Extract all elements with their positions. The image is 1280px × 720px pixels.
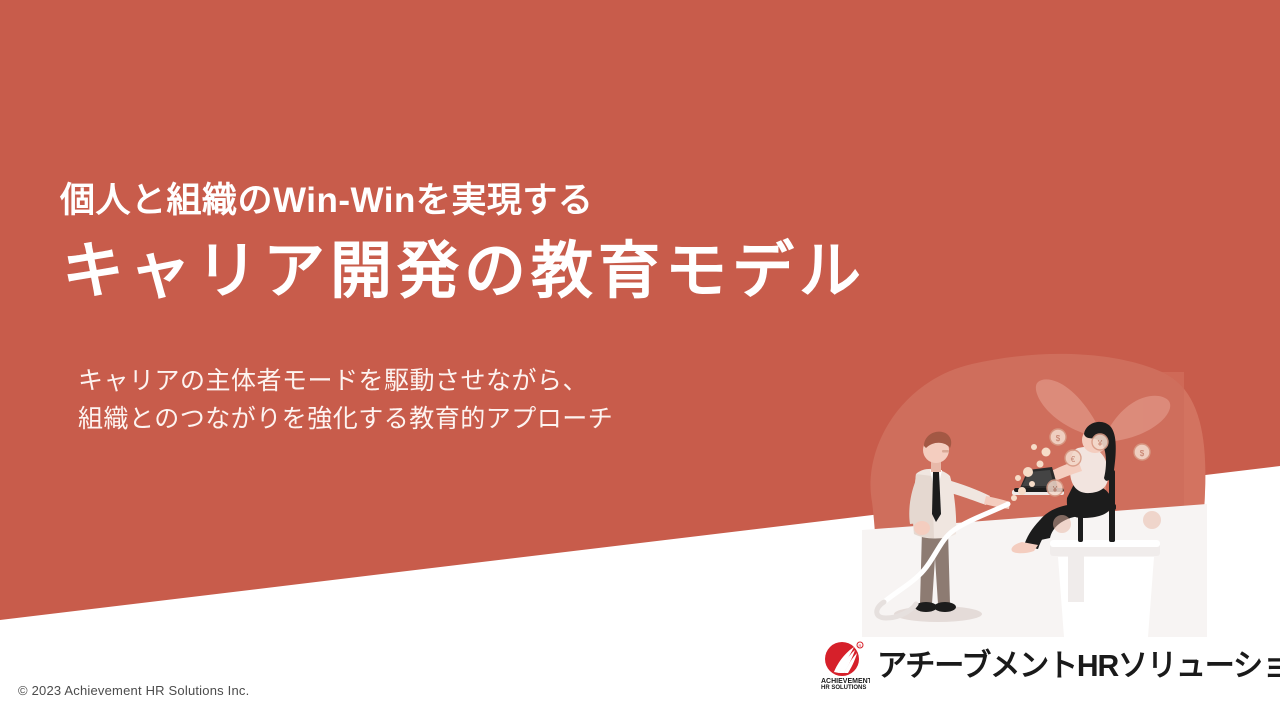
svg-text:€: € [1071,455,1076,464]
page-title: キャリア開発の教育モデル [62,236,866,307]
svg-text:ACHIEVEMENT: ACHIEVEMENT [821,678,870,685]
svg-text:¥: ¥ [1052,485,1058,494]
slide-subcopy-line-1: キャリアの主体者モードを駆動させながら、 [78,362,613,400]
slide-subcopy: キャリアの主体者モードを駆動させながら、 組織とのつながりを強化する教育的アプロ… [78,362,613,438]
slide-root: $ ¥ € $ ¥ [0,0,1280,720]
copyright-notice: © 2023 Achievement HR Solutions Inc. [18,683,249,698]
brand-logo: R ACHIEVEMENT HR SOLUTIONS アチーブメントHRソリュー… [818,640,1280,690]
svg-text:HR SOLUTIONS: HR SOLUTIONS [821,685,866,690]
career-growth-illustration: $ ¥ € $ ¥ [862,352,1207,637]
slide-subcopy-line-2: 組織とのつながりを強化する教育的アプローチ [78,400,613,438]
achievement-swoosh-icon: R ACHIEVEMENT HR SOLUTIONS [818,640,870,690]
plant-pot [1050,540,1160,637]
svg-text:$: $ [1056,434,1061,443]
slide-kicker: 個人と組織のWin-Winを実現する [60,180,593,222]
svg-text:¥: ¥ [1097,439,1103,448]
svg-text:R: R [859,643,862,648]
brand-wordmark: アチーブメントHRソリューションズ [877,650,1280,681]
svg-text:$: $ [1140,449,1145,458]
